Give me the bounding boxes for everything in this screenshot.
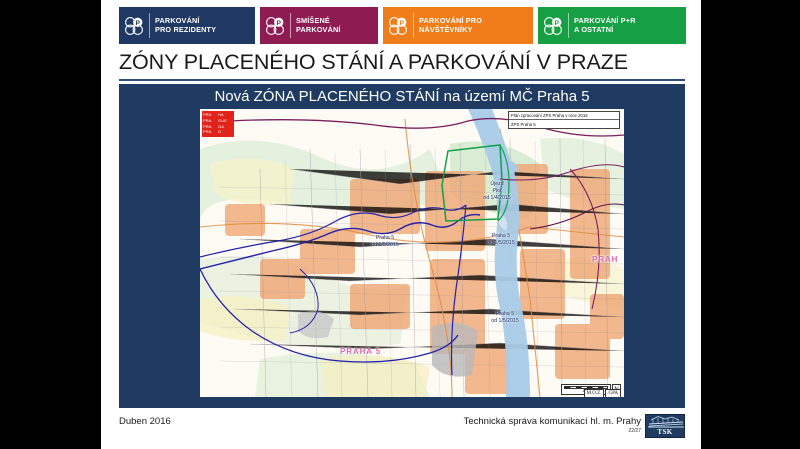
footer-date: Duben 2016 bbox=[119, 416, 171, 427]
map-label-praha5-south: Praha 5 od 1/5/2015 bbox=[482, 311, 528, 325]
map-legend-box: Plán zpracování ZPS Praha v roce 2016 ZP… bbox=[508, 111, 620, 129]
title-divider bbox=[119, 79, 685, 81]
legend-subtitle: ZPS Praha 5 bbox=[509, 120, 619, 127]
parking-category-banner: P PARKOVÁNÍ PRO REZIDENTY P bbox=[119, 7, 685, 44]
footer-page-number: 22/27 bbox=[628, 428, 641, 434]
map-label-ujezd: Újezd Plot od 1/4/2015 bbox=[474, 181, 520, 202]
legend-cell: PRA bbox=[203, 129, 218, 135]
legend-cell: G bbox=[218, 129, 233, 135]
presentation-slide: P PARKOVÁNÍ PRO REZIDENTY P bbox=[101, 0, 701, 449]
badge-label: PARKOVÁNÍ PRO NÁVŠTĚVNÍKY bbox=[419, 17, 489, 35]
parking-clover-icon: P bbox=[383, 7, 413, 44]
map-panel: Nová ZÓNA PLACENÉHO STÁNÍ na území MČ Pr… bbox=[119, 84, 685, 408]
parking-clover-icon: P bbox=[260, 7, 290, 44]
svg-text:P: P bbox=[399, 19, 404, 26]
map-label-praha-east: PRAH bbox=[592, 255, 618, 264]
map-label-praha5-center: Praha 5 od 1/5/2015 bbox=[478, 233, 524, 247]
tsk-logo: TSK bbox=[645, 414, 685, 438]
zone-boundaries-layer bbox=[200, 109, 624, 397]
slide-footer: Duben 2016 Technická správa komunikací h… bbox=[119, 416, 685, 440]
map-credit-group: M.O.Z. GPA bbox=[584, 389, 621, 397]
page-title: ZÓNY PLACENÉHO STÁNÍ A PARKOVÁNÍ V PRAZE bbox=[119, 50, 685, 75]
badge-label: PARKOVÁNÍ PRO REZIDENTY bbox=[155, 17, 223, 35]
legend-title: Plán zpracování ZPS Praha v roce 2016 bbox=[509, 112, 619, 120]
badge-smisene-parkovani[interactable]: P SMÍŠENÉ PARKOVÁNÍ bbox=[260, 7, 378, 44]
map-label-praha5-west: Praha 5 od 1/5/2015 bbox=[362, 235, 408, 249]
badge-parkovani-pr-a-ostatni[interactable]: P PARKOVÁNÍ P+R A OSTATNÍ bbox=[538, 7, 686, 44]
screenshot-stage: P PARKOVÁNÍ PRO REZIDENTY P bbox=[0, 0, 800, 449]
map-subtitle: Nová ZÓNA PLACENÉHO STÁNÍ na území MČ Pr… bbox=[119, 88, 685, 105]
parking-clover-icon: P bbox=[538, 7, 568, 44]
tsk-logo-text: TSK bbox=[646, 428, 684, 436]
svg-text:P: P bbox=[135, 19, 140, 26]
badge-divider bbox=[568, 13, 569, 38]
badge-label: SMÍŠENÉ PARKOVÁNÍ bbox=[296, 17, 348, 35]
svg-text:P: P bbox=[276, 19, 281, 26]
svg-text:P: P bbox=[554, 19, 559, 26]
prague-logo-legend: PRA HA PRA GUE PRA GA PRA G bbox=[202, 111, 234, 137]
badge-parkovani-pro-rezidenty[interactable]: P PARKOVÁNÍ PRO REZIDENTY bbox=[119, 7, 255, 44]
badge-parkovani-pro-navstevniky[interactable]: P PARKOVÁNÍ PRO NÁVŠTĚVNÍKY bbox=[383, 7, 533, 44]
badge-divider bbox=[413, 13, 414, 38]
map-credit-gpa: GPA bbox=[605, 389, 621, 397]
map-label-praha5-big: PRAHA 5 bbox=[340, 347, 381, 356]
badge-divider bbox=[290, 13, 291, 38]
badge-label: PARKOVÁNÍ P+R A OSTATNÍ bbox=[574, 17, 643, 35]
map-credit-moz: M.O.Z. bbox=[584, 389, 605, 397]
parking-clover-icon: P bbox=[119, 7, 149, 44]
footer-organisation: Technická správa komunikací hl. m. Prahy bbox=[464, 416, 641, 427]
prague-zone-map[interactable]: PRA HA PRA GUE PRA GA PRA G Plán zpracov… bbox=[200, 109, 624, 397]
badge-divider bbox=[149, 13, 150, 38]
